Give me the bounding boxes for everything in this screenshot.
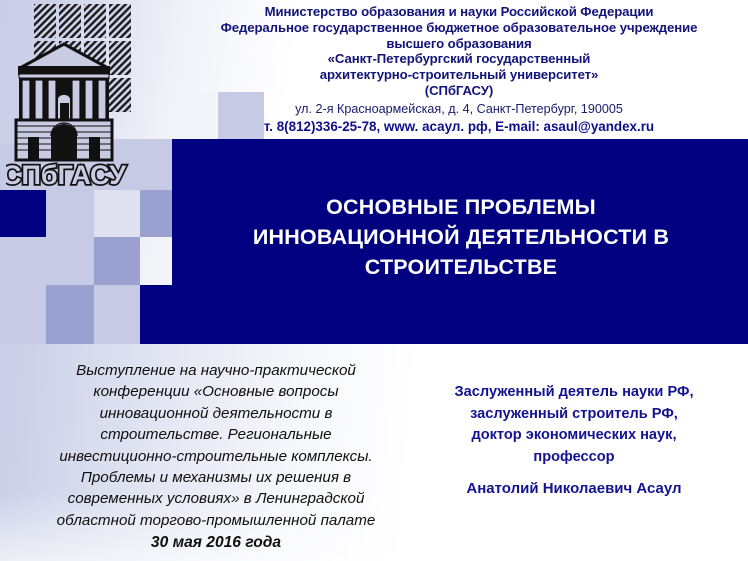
conference-text: Выступление на научно-практической конфе…: [57, 362, 376, 529]
title-line-2: ИННОВАЦИОННОЙ ДЕЯТЕЛЬНОСТИ В: [178, 222, 744, 252]
navy-accent-block-left: [0, 190, 46, 237]
header-line-2: Федеральное государственное бюджетное об…: [178, 20, 740, 36]
conference-description: Выступление на научно-практической конфе…: [40, 360, 392, 554]
conference-date: 30 мая 2016 года: [40, 532, 392, 553]
header-line-4: «Санкт-Петербургский государственный: [178, 51, 740, 67]
decor-square: [0, 285, 46, 344]
header-line-1: Министерство образования и науки Российс…: [178, 4, 740, 20]
navy-accent-block-mid: [140, 285, 172, 344]
author-name: Анатолий Николаевич Асаул: [404, 478, 744, 500]
logo-caption: СПбГАСУ: [6, 160, 127, 190]
header-contact[interactable]: т. 8(812)336-25-78, www. асаул. рф, E-ma…: [178, 118, 740, 135]
author-title-2: заслуженный строитель РФ,: [404, 404, 744, 426]
presentation-slide: СПбГАСУ Министерство образования и науки…: [0, 0, 748, 561]
page-title: ОСНОВНЫЕ ПРОБЛЕМЫ ИННОВАЦИОННОЙ ДЕЯТЕЛЬН…: [178, 192, 744, 282]
header-line-5: архитектурно-строительный университет»: [178, 67, 740, 83]
header-line-3: высшего образования: [178, 36, 740, 52]
decor-square: [94, 237, 140, 285]
decor-square: [140, 190, 172, 237]
title-line-3: СТРОИТЕЛЬСТВЕ: [178, 252, 744, 282]
author-title-1: Заслуженный деятель науки РФ,: [404, 382, 744, 404]
decor-square: [46, 237, 94, 285]
author-title-3: доктор экономических наук,: [404, 425, 744, 447]
decor-square: [94, 285, 140, 344]
title-line-1: ОСНОВНЫЕ ПРОБЛЕМЫ: [178, 192, 744, 222]
institution-header: Министерство образования и науки Российс…: [178, 4, 740, 135]
header-line-6: (СПбГАСУ): [178, 83, 740, 99]
author-title-4: профессор: [404, 447, 744, 469]
author-block: Заслуженный деятель науки РФ, заслуженны…: [404, 382, 744, 500]
decor-square: [0, 237, 46, 285]
logo-building: [16, 44, 112, 160]
decor-square: [94, 190, 140, 237]
decor-square: [46, 285, 94, 344]
decor-square: [46, 190, 94, 237]
spbgasu-logo: СПбГАСУ: [6, 2, 172, 190]
header-address: ул. 2-я Красноармейская, д. 4, Санкт-Пет…: [178, 101, 740, 117]
